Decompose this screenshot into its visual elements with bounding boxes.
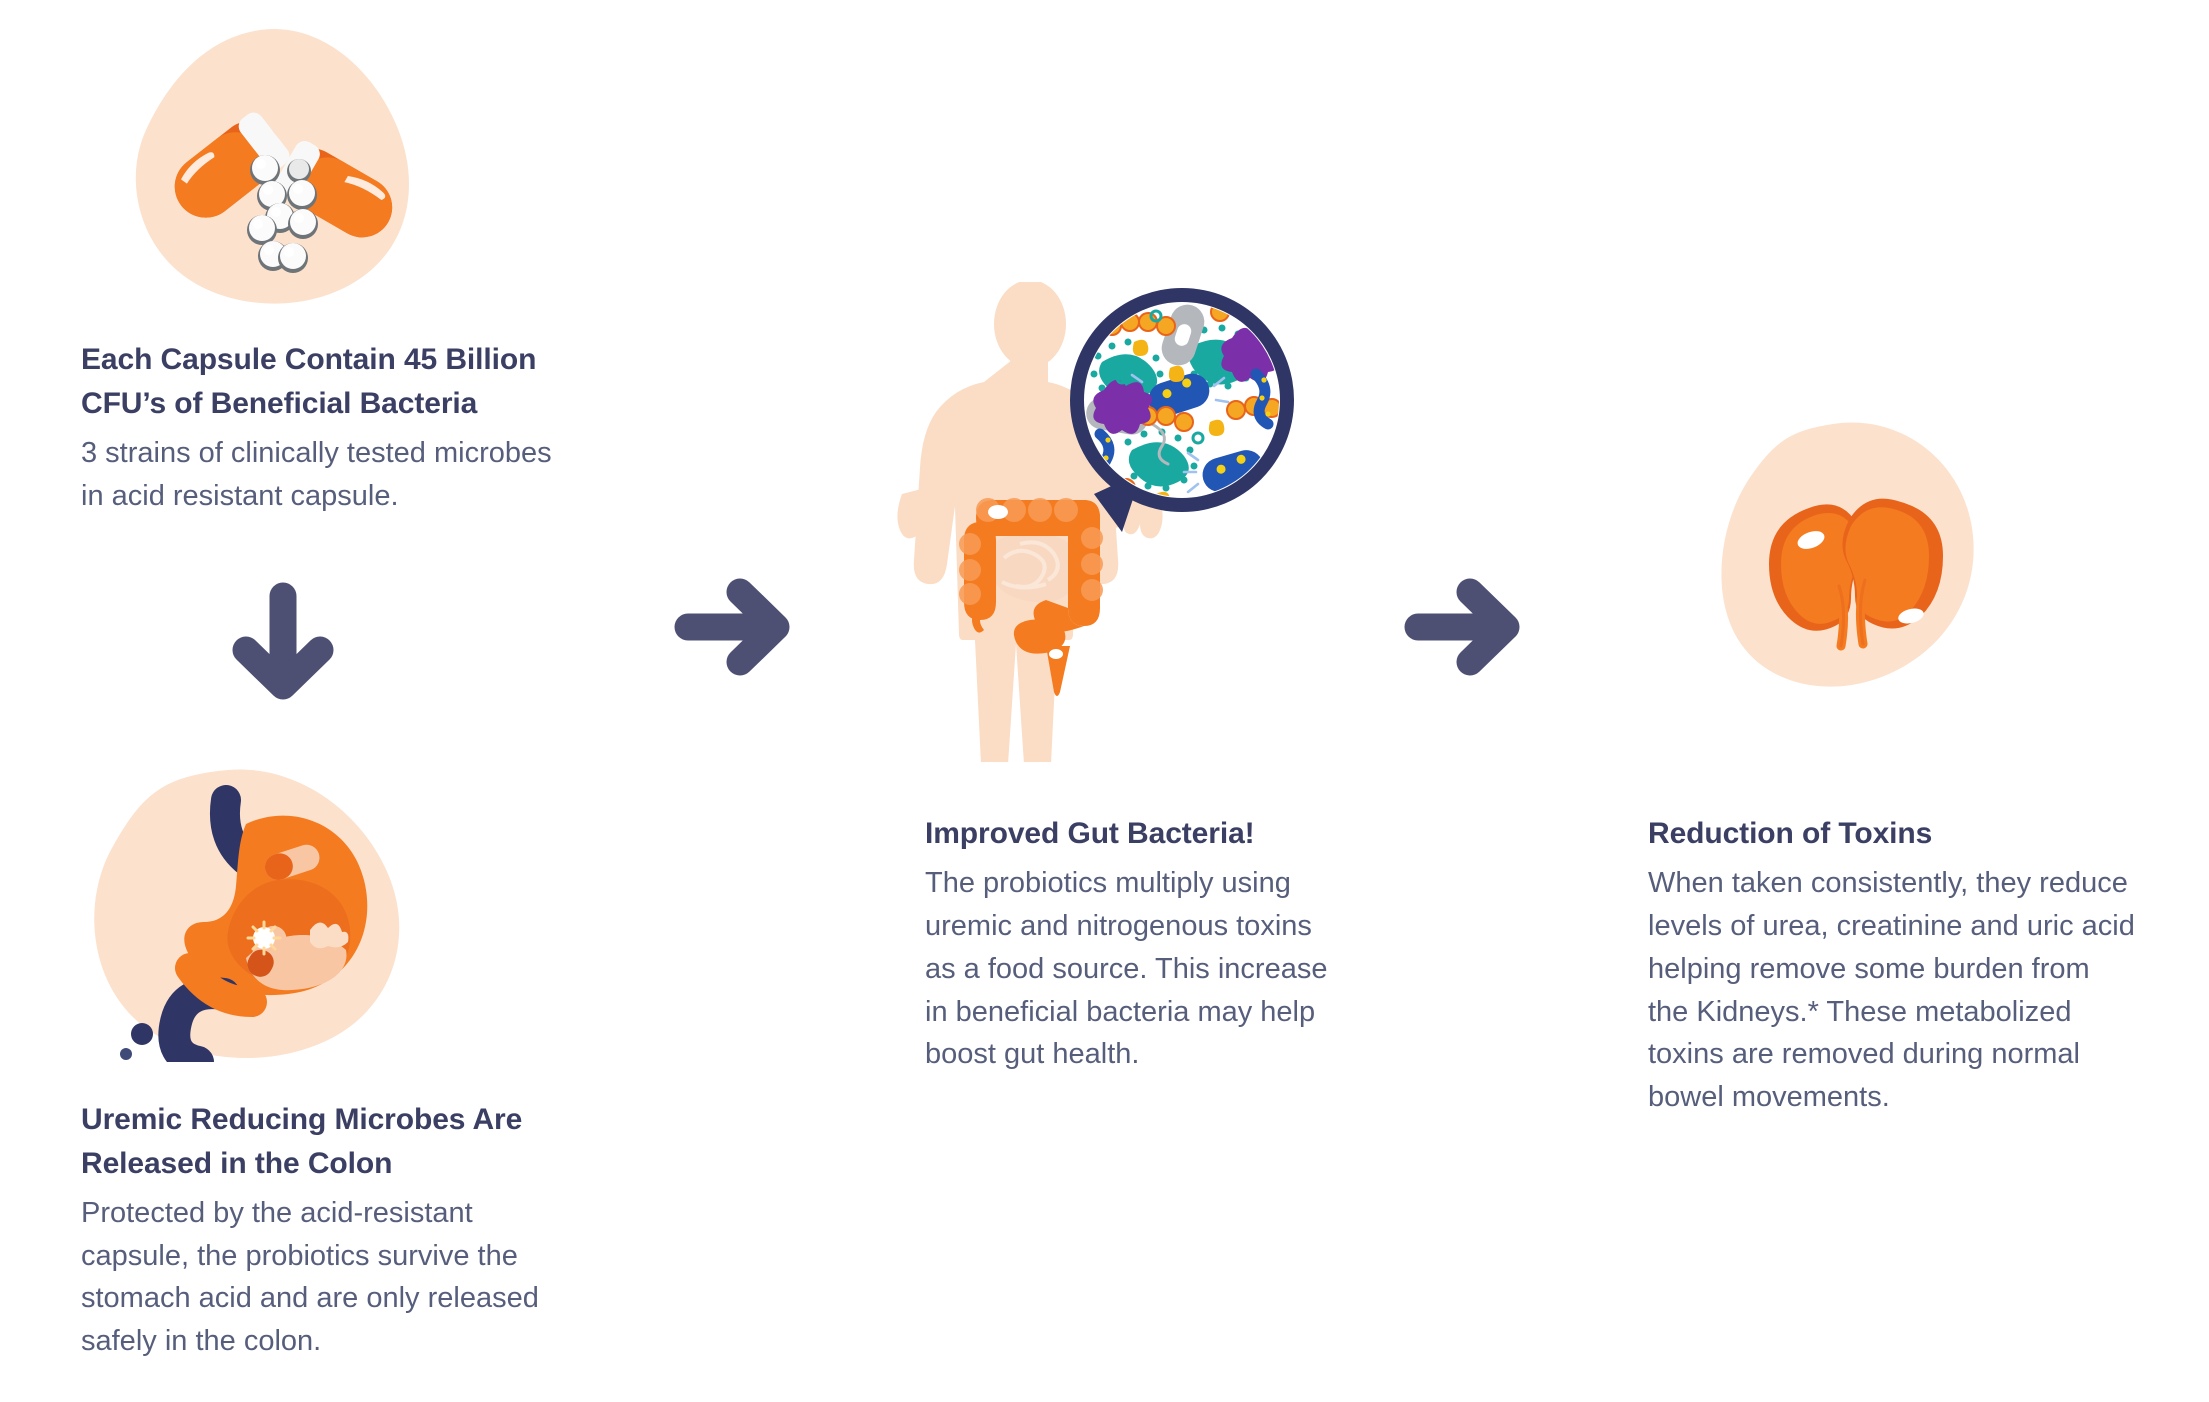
gut-body-line-4: in beneficial bacteria may help [925, 991, 1365, 1034]
capsule-title: Each Capsule Contain 45 Billion CFU’s of… [81, 338, 601, 426]
stomach-title-line-1: Uremic Reducing Microbes Are [81, 1103, 522, 1136]
gut-body: The probiotics multiply using uremic and… [925, 862, 1365, 1077]
gut-illustration [880, 282, 1300, 762]
gut-text-block: Improved Gut Bacteria! The probiotics mu… [925, 812, 1365, 1076]
human-body-colon-with-bacteria-magnifier-icon [880, 282, 1300, 762]
gut-body-line-5: boost gut health. [925, 1033, 1365, 1076]
kidneys-body-line-4: the Kidneys.* These metabolized [1648, 991, 2148, 1034]
kidneys-body-line-6: bowel movements. [1648, 1076, 2148, 1119]
kidneys-text-block: Reduction of Toxins When taken consisten… [1648, 812, 2148, 1119]
capsule-body: 3 strains of clinically tested microbes … [81, 432, 601, 518]
kidneys-body-line-5: toxins are removed during normal [1648, 1033, 2148, 1076]
gut-title-line-1: Improved Gut Bacteria! [925, 817, 1255, 850]
arrow-right-stomach-to-gut [672, 572, 800, 687]
gut-title: Improved Gut Bacteria! [925, 812, 1365, 856]
gut-body-line-3: as a food source. This increase [925, 948, 1365, 991]
kidneys-title: Reduction of Toxins [1648, 812, 2148, 856]
kidneys-body: When taken consistently, they reduce lev… [1648, 862, 2148, 1119]
stomach-with-capsule-icon [78, 762, 418, 1062]
kidneys-body-line-3: helping remove some burden from [1648, 948, 2148, 991]
kidneys-title-line-1: Reduction of Toxins [1648, 817, 1932, 850]
stomach-body-line-1: Protected by the acid-resistant [81, 1192, 601, 1235]
stomach-text-block: Uremic Reducing Microbes Are Released in… [81, 1098, 601, 1363]
capsule-body-line-1: 3 strains of clinically tested microbes [81, 432, 601, 475]
stomach-title-line-2: Released in the Colon [81, 1147, 392, 1180]
capsule-illustration [110, 18, 430, 318]
stomach-body-line-3: stomach acid and are only released [81, 1277, 601, 1320]
gut-body-line-2: uremic and nitrogenous toxins [925, 905, 1365, 948]
stomach-body: Protected by the acid-resistant capsule,… [81, 1192, 601, 1364]
open-capsule-with-granules-icon [110, 18, 430, 318]
capsule-body-line-2: in acid resistant capsule. [81, 475, 601, 518]
stomach-illustration [78, 762, 418, 1062]
spark-icon [248, 922, 280, 954]
arrow-down-capsule-to-stomach [228, 578, 338, 713]
kidneys-body-line-1: When taken consistently, they reduce [1648, 862, 2148, 905]
capsule-title-line-2: CFU’s of Beneficial Bacteria [81, 387, 477, 420]
gut-body-line-1: The probiotics multiply using [925, 862, 1365, 905]
kidneys-body-line-2: levels of urea, creatinine and uric acid [1648, 905, 2148, 948]
infographic-canvas: Each Capsule Contain 45 Billion CFU’s of… [0, 0, 2209, 1402]
kidneys-icon [1715, 418, 2015, 708]
arrow-right-gut-to-kidneys [1402, 572, 1530, 687]
stomach-title: Uremic Reducing Microbes Are Released in… [81, 1098, 601, 1186]
stomach-body-line-2: capsule, the probiotics survive the [81, 1235, 601, 1278]
capsule-title-line-1: Each Capsule Contain 45 Billion [81, 343, 536, 376]
kidneys-illustration [1715, 418, 2015, 708]
capsule-text-block: Each Capsule Contain 45 Billion CFU’s of… [81, 338, 601, 517]
stomach-body-line-4: safely in the colon. [81, 1320, 601, 1363]
